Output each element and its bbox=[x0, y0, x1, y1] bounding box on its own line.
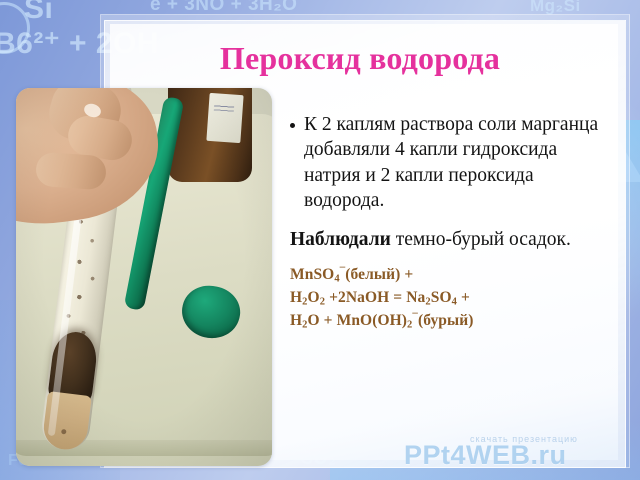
equation-l2-naoh: +2NaOH = Na bbox=[325, 289, 425, 306]
equation-l2-so: SO bbox=[431, 289, 452, 306]
background-formula-nitrate: e + 3NO + 3H₂O bbox=[150, 0, 297, 16]
observation-rest-text: темно-бурый осадок. bbox=[391, 229, 571, 250]
equation-line-3: H2O + MnO(OH)2¯(бурый) bbox=[290, 310, 608, 333]
equation-l2-o: O bbox=[308, 289, 320, 306]
watermark-subtext: скачать презентацию bbox=[470, 434, 578, 444]
background-sheen-bottom bbox=[330, 380, 640, 480]
bullet-item-text: К 2 каплям раствора соли марганца добавл… bbox=[304, 112, 608, 213]
slide-title: Пероксид водорода bbox=[120, 42, 600, 76]
equation-l3-h: H bbox=[290, 312, 302, 329]
chemical-equation: MnSO4¯(белый) + H2O2 +2NaOH = Na2SO4 + H… bbox=[290, 264, 608, 333]
equation-line-2: H2O2 +2NaOH = Na2SO4 + bbox=[290, 287, 608, 310]
observation-lead-word: Наблюдали bbox=[290, 229, 391, 250]
equation-l1-mnso: MnSO bbox=[290, 266, 334, 283]
equation-l1-color-note: (белый) + bbox=[345, 266, 413, 283]
observation-paragraph: Наблюдали темно-бурый осадок. bbox=[290, 227, 608, 252]
photo-contents bbox=[16, 88, 272, 466]
background-formula-si: Si bbox=[24, 0, 53, 26]
background-formula-co2: CO₂ bbox=[300, 448, 337, 469]
equation-l2-h: H bbox=[290, 289, 302, 306]
experiment-photo bbox=[16, 88, 272, 466]
bullet-marker-icon bbox=[290, 123, 295, 128]
bullet-list-item: К 2 каплям раствора соли марганца добавл… bbox=[290, 112, 608, 213]
presentation-slide: Si B6²⁺ + 2OH e + 3NO + 3H₂O Mg₂Si CO₂ F… bbox=[0, 0, 640, 480]
text-content-column: К 2 каплям раствора соли марганца добавл… bbox=[290, 112, 608, 333]
equation-l3-mnooh: O + MnO(OH) bbox=[308, 312, 407, 329]
background-ring-decoration bbox=[0, 2, 30, 54]
equation-line-1: MnSO4¯(белый) + bbox=[290, 264, 608, 287]
photo-vignette bbox=[16, 88, 272, 466]
equation-l3-color-note: (бурый) bbox=[418, 312, 474, 329]
site-watermark: PPt4WEB.ru bbox=[404, 440, 567, 471]
equation-l2-plus: + bbox=[457, 289, 470, 306]
background-formula-mg2si: Mg₂Si bbox=[530, 0, 581, 16]
